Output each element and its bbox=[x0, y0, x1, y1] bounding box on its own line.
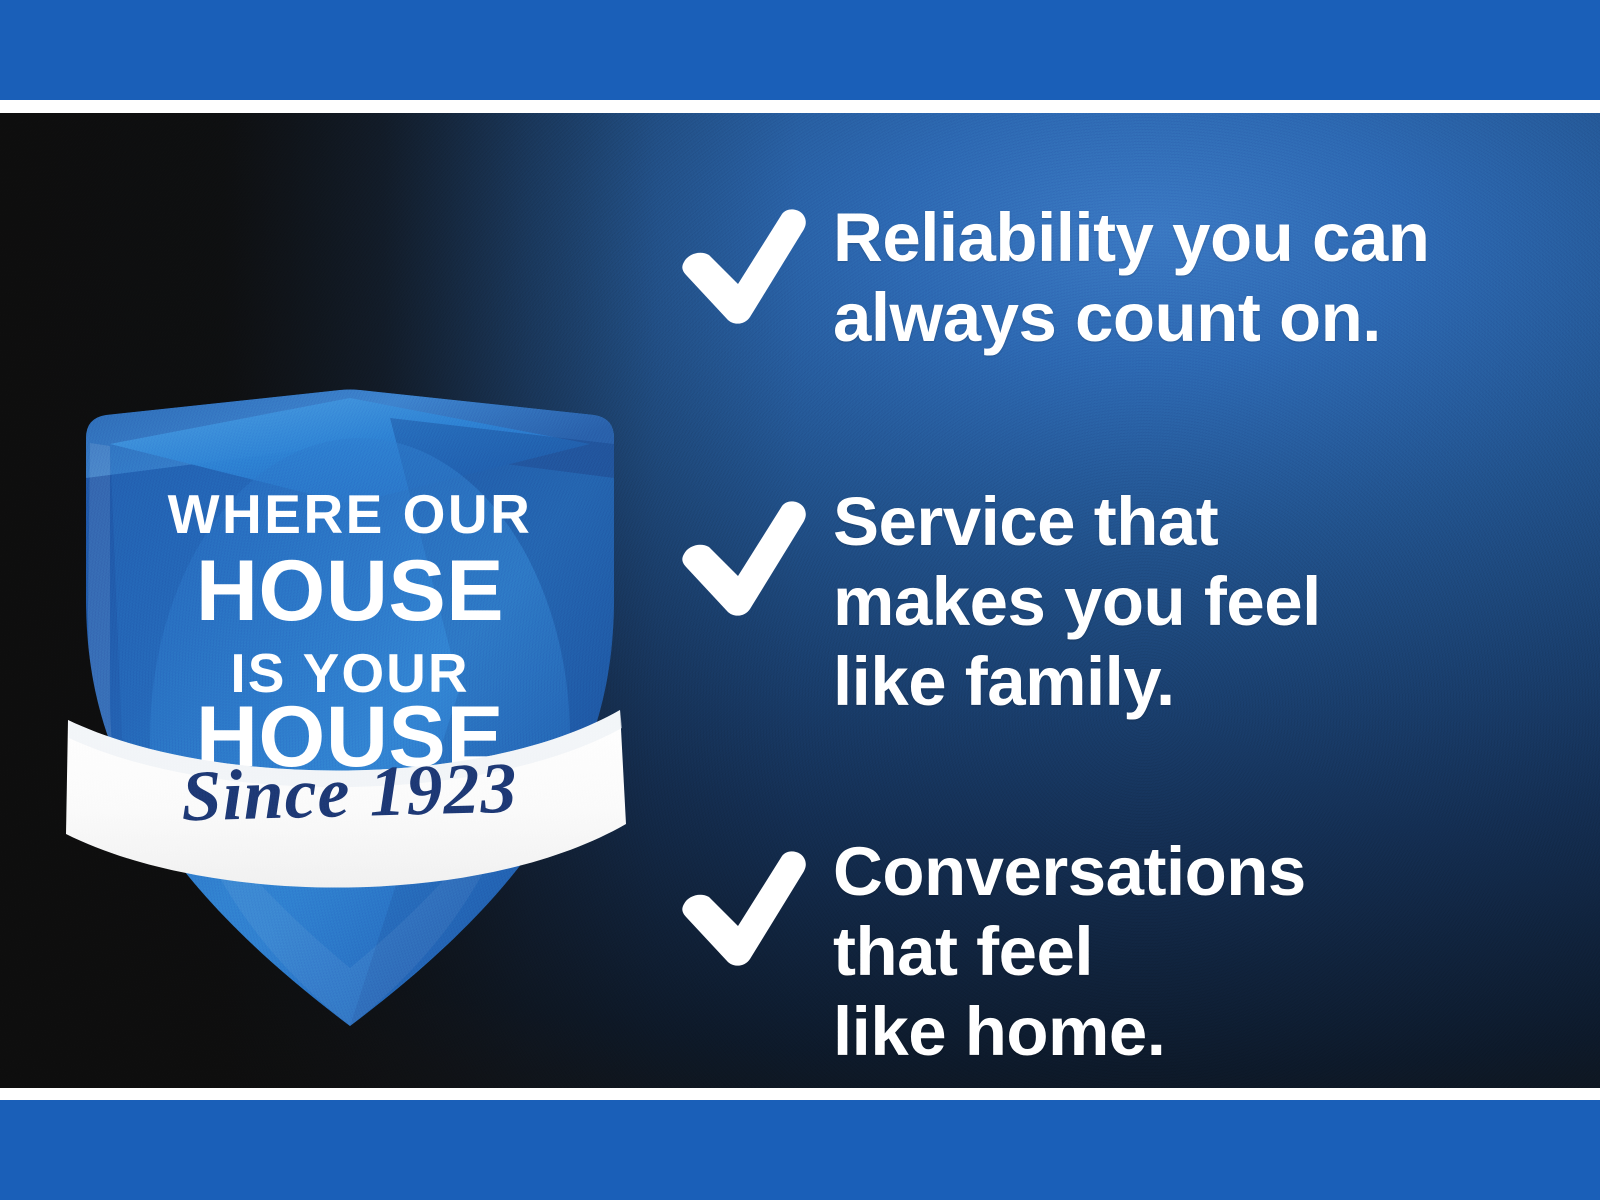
shield-line-2: HOUSE bbox=[196, 543, 504, 639]
benefit-item: Service that makes you feel like family. bbox=[660, 482, 1540, 722]
ribbon-text: Since 1923 bbox=[180, 748, 518, 837]
promo-graphic: WHERE OUR HOUSE IS YOUR HOUSE Since 1923 bbox=[0, 0, 1600, 1200]
checkmark-icon bbox=[678, 498, 808, 623]
benefits-list: Reliability you can always count on. Ser… bbox=[660, 198, 1540, 1072]
checkmark-icon bbox=[678, 206, 808, 331]
bottom-divider-rule bbox=[0, 1088, 1600, 1100]
top-brand-bar bbox=[0, 0, 1600, 100]
shield-line-1: WHERE OUR bbox=[168, 483, 533, 545]
checkmark-icon bbox=[678, 848, 808, 973]
shield-badge: WHERE OUR HOUSE IS YOUR HOUSE Since 1923 bbox=[60, 268, 640, 1038]
main-canvas: WHERE OUR HOUSE IS YOUR HOUSE Since 1923 bbox=[0, 113, 1600, 1088]
benefit-item: Conversations that feel like home. bbox=[660, 832, 1540, 1072]
bottom-brand-bar bbox=[0, 1100, 1600, 1200]
benefit-item: Reliability you can always count on. bbox=[660, 198, 1540, 358]
top-divider-rule bbox=[0, 100, 1600, 113]
